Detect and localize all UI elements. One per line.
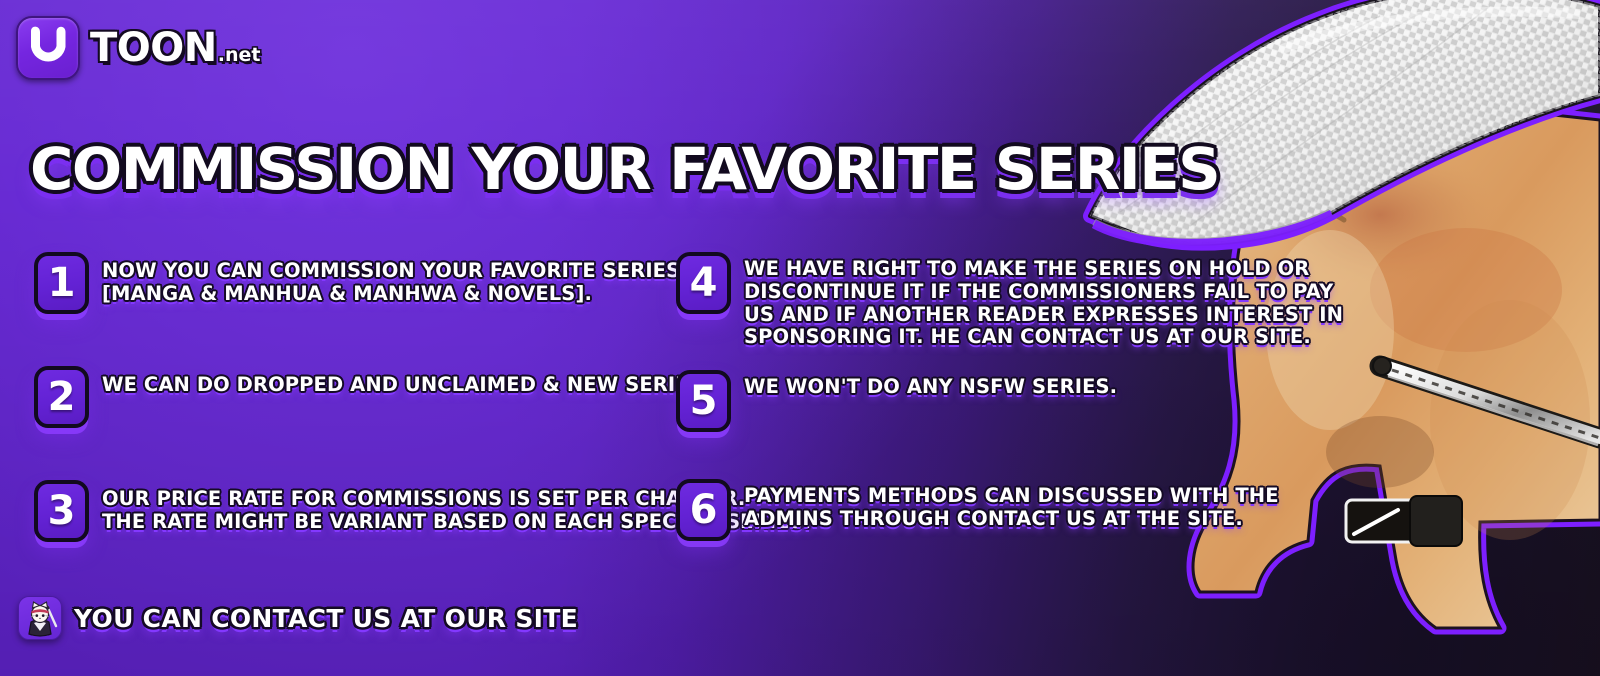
contact-footer-text: YOU CAN CONTACT US AT OUR SITE [74,604,578,633]
brand-wordmark: TOON .net [90,28,261,68]
item-number-badge: 1 [34,252,89,314]
brand-logo[interactable]: TOON .net [16,16,261,80]
list-item: 2 WE CAN DO DROPPED AND UNCLAIMED & NEW … [34,364,674,426]
crescent-moon-logo-icon [16,16,80,80]
item-number-badge: 5 [676,370,731,432]
item-number-badge: 3 [34,480,89,542]
item-text: WE WON'T DO ANY NSFW SERIES. [744,368,1236,399]
samurai-cat-avatar-icon [18,596,62,640]
list-item: 1 NOW YOU CAN COMMISSION YOUR FAVORITE S… [34,250,674,312]
item-line: [MANGA & MANHUA & MANHWA & NOVELS]. [102,283,680,306]
contact-footer[interactable]: YOU CAN CONTACT US AT OUR SITE [18,596,578,640]
item-text: NOW YOU CAN COMMISSION YOUR FAVORITE SER… [102,250,680,306]
commission-banner: TOON .net COMMISSION YOUR FAVORITE SERIE… [0,0,1600,676]
brand-tld: .net [218,46,261,65]
item-line: WE CAN DO DROPPED AND UNCLAIMED & NEW SE… [102,374,710,397]
item-text: PAYMENTS METHODS CAN DISCUSSED WITH THE … [744,477,1279,531]
item-line: WE WON'T DO ANY NSFW SERIES. [744,376,1236,399]
rules-column-left: 1 NOW YOU CAN COMMISSION YOUR FAVORITE S… [34,250,674,540]
item-text: WE HAVE RIGHT TO MAKE THE SERIES ON HOLD… [744,250,1343,349]
item-line: US AND IF ANOTHER READER EXPRESSES INTER… [744,304,1343,327]
item-number-badge: 2 [34,366,89,428]
rules-column-right: 4 WE HAVE RIGHT TO MAKE THE SERIES ON HO… [676,250,1236,539]
item-line: DISCONTINUE IT IF THE COMMISSIONERS FAIL… [744,281,1343,304]
item-line: SPONSORING IT. HE CAN CONTACT US AT OUR … [744,326,1343,349]
brand-name: TOON [90,28,217,68]
page-title: COMMISSION YOUR FAVORITE SERIES [30,140,1219,198]
item-text: WE CAN DO DROPPED AND UNCLAIMED & NEW SE… [102,364,710,397]
list-item: 6 PAYMENTS METHODS CAN DISCUSSED WITH TH… [676,477,1236,539]
list-item: 4 WE HAVE RIGHT TO MAKE THE SERIES ON HO… [676,250,1236,349]
item-line: WE HAVE RIGHT TO MAKE THE SERIES ON HOLD… [744,258,1343,281]
list-item: 5 WE WON'T DO ANY NSFW SERIES. [676,368,1236,430]
item-number-badge: 6 [676,479,731,541]
item-line: ADMINS THROUGH CONTACT US AT THE SITE. [744,508,1279,531]
list-item: 3 OUR PRICE RATE FOR COMMISSIONS IS SET … [34,478,674,540]
item-line: NOW YOU CAN COMMISSION YOUR FAVORITE SER… [102,260,680,283]
item-line: PAYMENTS METHODS CAN DISCUSSED WITH THE [744,485,1279,508]
item-number-badge: 4 [676,252,731,314]
